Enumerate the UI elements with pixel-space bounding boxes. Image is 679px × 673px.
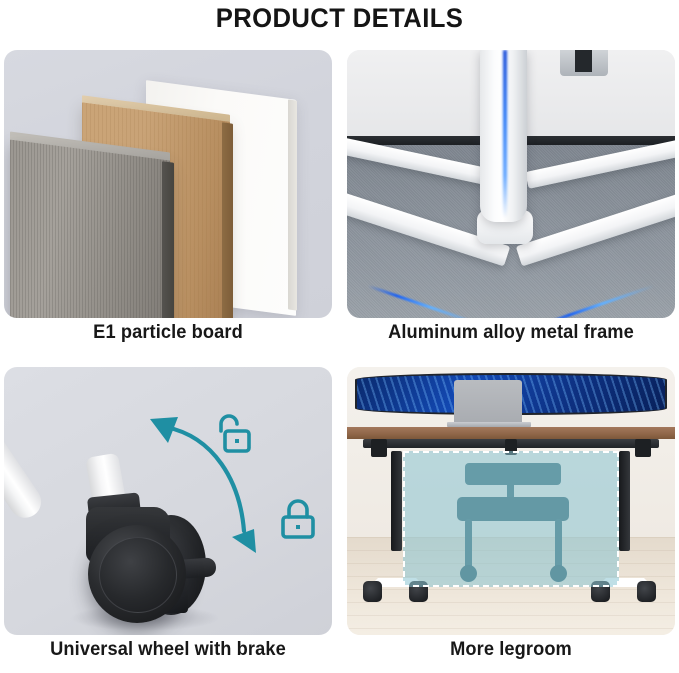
board-sample-grey <box>10 139 170 318</box>
detail-card-e1-particle-board: E1 particle board <box>4 50 332 353</box>
frame-scene-wall-mount-slot <box>575 50 592 72</box>
legroom-laptop <box>454 380 522 423</box>
legroom-highlight-area <box>403 451 619 587</box>
detail-card-aluminum-alloy-metal-frame: Aluminum alloy metal frame <box>347 50 675 353</box>
legroom-desktop-surface <box>347 427 675 439</box>
unlocked-padlock-icon <box>212 411 252 455</box>
panel-caption-universal-wheel-with-brake: Universal wheel with brake <box>11 639 326 661</box>
legroom-bracket-right <box>635 439 651 457</box>
board-sample-oak-edge <box>222 122 233 318</box>
locked-padlock-icon <box>278 497 318 541</box>
panel-image-universal-wheel-with-brake <box>4 367 332 635</box>
panel-image-aluminum-alloy-metal-frame <box>347 50 675 318</box>
panel-caption-more-legroom: More legroom <box>354 639 669 661</box>
board-sample-grey-edge <box>162 161 174 318</box>
legroom-post-right <box>619 451 630 551</box>
detail-card-universal-wheel-with-brake: Universal wheel with brake <box>4 367 332 670</box>
legroom-bracket-left <box>371 439 387 457</box>
legroom-post-left <box>391 451 402 551</box>
frame-column-blue-glow <box>503 50 507 218</box>
panel-caption-aluminum-alloy-metal-frame: Aluminum alloy metal frame <box>354 322 669 344</box>
caster-leg-tube-upper <box>4 373 47 524</box>
board-sample-white-edge <box>288 99 297 310</box>
detail-card-more-legroom: More legroom <box>347 367 675 670</box>
legroom-desk-caster-right-front <box>637 581 656 602</box>
panel-caption-e1-particle-board: E1 particle board <box>11 322 326 344</box>
legroom-desk-caster-left-front <box>363 581 382 602</box>
page-title: PRODUCT DETAILS <box>17 2 662 34</box>
product-details-grid: E1 particle board Aluminum alloy metal f… <box>4 50 675 670</box>
panel-image-more-legroom <box>347 367 675 635</box>
panel-image-e1-particle-board <box>4 50 332 318</box>
